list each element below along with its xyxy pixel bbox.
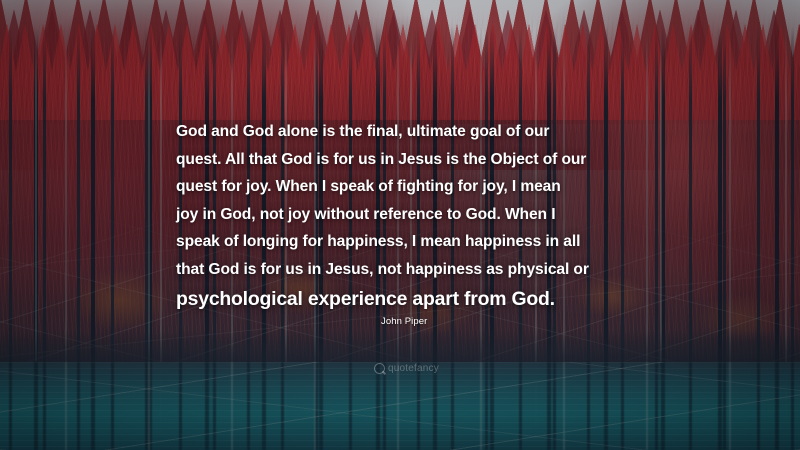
quote-line-3: quest for joy. When I speak of fighting … <box>176 173 626 201</box>
watermark-label: quotefancy <box>388 363 439 374</box>
watermark: quotefancy <box>374 363 439 374</box>
quote-line-4: joy in God, not joy without reference to… <box>176 201 626 229</box>
quote-line-2: quest. All that God is for us in Jesus i… <box>176 146 626 174</box>
quotefancy-logo-icon <box>374 363 385 374</box>
quote-line-6: that God is for us in Jesus, not happine… <box>176 256 626 284</box>
quote-author: John Piper <box>381 316 427 327</box>
quote-text-block: God and God alone is the final, ultimate… <box>176 118 626 314</box>
quote-line-5: speak of longing for happiness, I mean h… <box>176 228 626 256</box>
quote-line-7: psychological experience apart from God. <box>176 284 626 314</box>
quote-poster: God and God alone is the final, ultimate… <box>0 0 800 450</box>
quote-line-1: God and God alone is the final, ultimate… <box>176 118 626 146</box>
